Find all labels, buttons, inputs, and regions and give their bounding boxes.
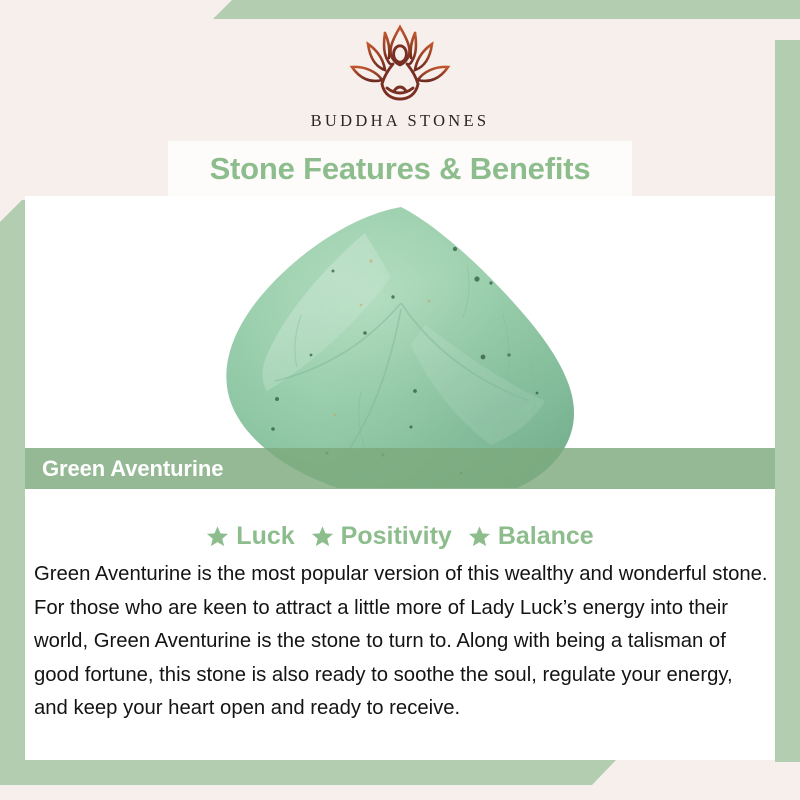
feature-label-positivity: Positivity	[341, 522, 452, 551]
stone-name-label: Green Aventurine	[42, 456, 223, 482]
stone-description: Green Aventurine is the most popular ver…	[34, 558, 772, 726]
star-icon	[468, 525, 491, 548]
green-aventurine-stone-image	[215, 205, 585, 488]
stone-photo	[25, 196, 775, 488]
lotus-meditation-icon	[344, 22, 456, 104]
title-banner: Stone Features & Benefits	[168, 141, 632, 196]
star-icon	[311, 525, 334, 548]
left-green-strip	[0, 200, 25, 762]
feature-item-luck: Luck	[206, 522, 294, 551]
feature-label-balance: Balance	[498, 522, 594, 551]
feature-item-balance: Balance	[468, 522, 594, 551]
top-green-band	[213, 0, 800, 19]
infographic-page: BUDDHA STONES	[0, 0, 800, 800]
star-icon	[206, 525, 229, 548]
feature-item-positivity: Positivity	[311, 522, 452, 551]
brand-name: BUDDHA STONES	[311, 111, 490, 131]
brand-logo-block: BUDDHA STONES	[0, 22, 800, 152]
features-row: Luck Positivity Balance	[25, 518, 775, 554]
feature-label-luck: Luck	[236, 522, 294, 551]
stone-name-bar: Green Aventurine	[25, 448, 775, 489]
bottom-green-band	[0, 760, 616, 785]
page-title: Stone Features & Benefits	[210, 151, 591, 187]
